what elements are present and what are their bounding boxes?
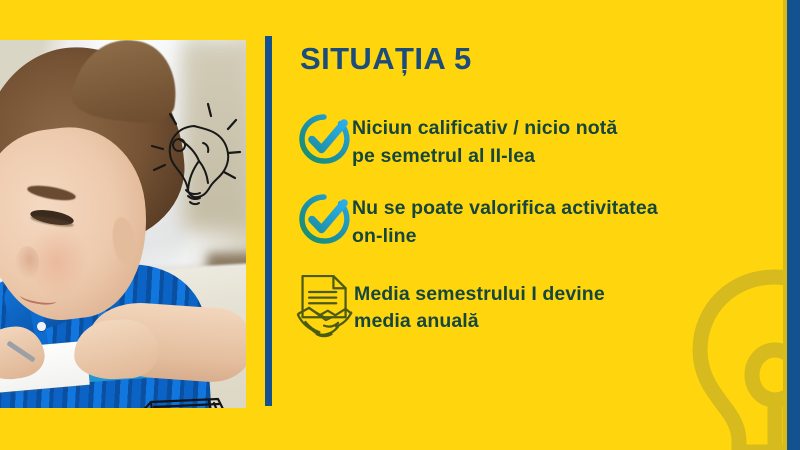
- check-circle-icon: [296, 191, 352, 247]
- photo-scene: [0, 40, 246, 408]
- list-item: Media semestrului I devine media anuală: [296, 271, 776, 336]
- list-item-text: Media semestrului I devine media anuală: [354, 271, 605, 336]
- check-circle-icon: [296, 111, 352, 167]
- list-item: Nu se poate valorifica activitatea on-li…: [296, 190, 776, 250]
- list-item-line-1: Media semestrului I devine: [354, 283, 605, 305]
- student-photo: [0, 40, 246, 408]
- list-item-line-1: Niciun calificativ / nicio notă: [352, 117, 617, 139]
- list-item-line-2: media anuală: [354, 310, 479, 332]
- list-item-line-1: Nu se poate valorifica activitatea: [352, 197, 658, 219]
- title-accent-bar: [265, 36, 272, 406]
- bullet-list: Niciun calificativ / nicio notă pe semet…: [296, 110, 776, 336]
- list-item-text: Niciun calificativ / nicio notă pe semet…: [352, 110, 617, 170]
- right-edge-navy-stripe: [787, 0, 800, 450]
- list-item-line-2: on-line: [352, 225, 417, 247]
- list-item-text: Nu se poate valorifica activitatea on-li…: [352, 190, 658, 250]
- photo-shirt-button: [37, 322, 45, 332]
- list-item: Niciun calificativ / nicio notă pe semet…: [296, 110, 776, 170]
- page-title: SITUAȚIA 5: [300, 41, 472, 77]
- photo-background-blur: [182, 40, 246, 231]
- list-item-line-2: pe semetrul al II-lea: [352, 145, 535, 167]
- document-handshake-icon: [296, 272, 354, 328]
